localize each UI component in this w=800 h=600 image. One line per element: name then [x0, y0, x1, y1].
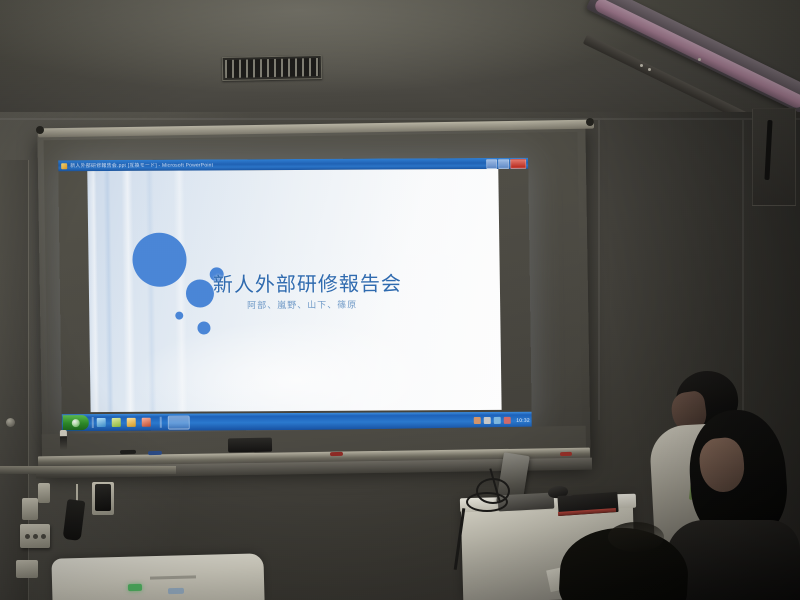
- wall-panel: [752, 108, 796, 206]
- cable-loop-2: [466, 492, 508, 512]
- presentation-slide[interactable]: 新人外部研修報告会 阿部、嵐野、山下、篠原: [87, 169, 501, 412]
- update-icon[interactable]: [494, 417, 501, 424]
- vent-slats: [225, 58, 319, 78]
- app-icon[interactable]: [142, 418, 151, 427]
- whiteboard-eraser[interactable]: [228, 438, 272, 453]
- system-tray[interactable]: 10:32: [474, 414, 530, 427]
- mail-icon[interactable]: [112, 418, 121, 427]
- switch-dot-3[interactable]: [41, 534, 46, 539]
- browser-icon[interactable]: [97, 418, 106, 427]
- slide-circle-large: [132, 233, 187, 287]
- slide-circle-medium: [186, 279, 214, 307]
- ceiling-wall-seam: [0, 118, 800, 120]
- quicklaunch-separator: [92, 417, 94, 428]
- marker-red-2[interactable]: [560, 452, 572, 456]
- screen-rail-end-right: [586, 118, 594, 126]
- slide-circle-tiny: [175, 312, 183, 320]
- marker-red[interactable]: [330, 452, 343, 456]
- volume-icon[interactable]: [484, 417, 491, 424]
- marker-blue[interactable]: [148, 451, 162, 455]
- room-photo-scene: 新人外部研修報告会.ppt [互換モード] - Microsoft PowerP…: [0, 0, 800, 600]
- spray-bottle[interactable]: [60, 430, 67, 450]
- slide-title: 新人外部研修報告会: [213, 267, 402, 297]
- taskbar-clock[interactable]: 10:32: [516, 417, 530, 423]
- maximize-button[interactable]: [498, 159, 509, 169]
- slide-subtitle: 阿部、嵐野、山下、篠原: [247, 298, 357, 312]
- wall-phone-handset[interactable]: [95, 484, 111, 511]
- start-button[interactable]: [63, 415, 89, 430]
- switch-dot-2[interactable]: [33, 534, 38, 539]
- switch-dot-1[interactable]: [25, 534, 30, 539]
- wall-corner-seam: [598, 120, 600, 420]
- security-icon[interactable]: [504, 417, 511, 424]
- ceiling-light-sheen: [0, 0, 800, 118]
- slide-circle-xs: [197, 321, 210, 334]
- network-icon[interactable]: [474, 417, 481, 424]
- bracket-screw-icon: [698, 58, 701, 61]
- taskbar-task-powerpoint[interactable]: [168, 415, 190, 429]
- minimize-button[interactable]: [486, 159, 497, 169]
- green-indicator-light: [128, 584, 142, 591]
- folder-icon[interactable]: [127, 418, 136, 427]
- wall-panel-seam: [742, 120, 744, 420]
- blue-indicator-light: [168, 588, 184, 594]
- wall-hook-plate[interactable]: [22, 498, 38, 520]
- wall-outlet[interactable]: [16, 560, 38, 578]
- foreground-person-hair-wisp: [608, 522, 664, 552]
- ceiling-vent-icon: [222, 55, 322, 81]
- wall-shelf-strip: [0, 466, 176, 474]
- window-title-text: 新人外部研修報告会.ppt [互換モード] - Microsoft PowerP…: [70, 161, 213, 169]
- projector-hotspot: [129, 319, 461, 412]
- powerpoint-icon: [61, 163, 67, 169]
- marker-black[interactable]: [120, 450, 136, 454]
- bracket-screw-icon: [648, 68, 651, 71]
- window-controls[interactable]: [486, 159, 526, 169]
- bracket-screw-icon: [640, 64, 643, 67]
- door-knob-icon[interactable]: [6, 418, 15, 427]
- projected-desktop: 新人外部研修報告会.ppt [互換モード] - Microsoft PowerP…: [58, 158, 532, 431]
- start-orb-icon: [72, 419, 80, 427]
- task-separator: [160, 417, 162, 428]
- light-switch-plate[interactable]: [20, 524, 50, 548]
- wall-bracket: [38, 483, 50, 503]
- screen-rail-end-left: [36, 126, 44, 134]
- close-button[interactable]: [510, 159, 526, 169]
